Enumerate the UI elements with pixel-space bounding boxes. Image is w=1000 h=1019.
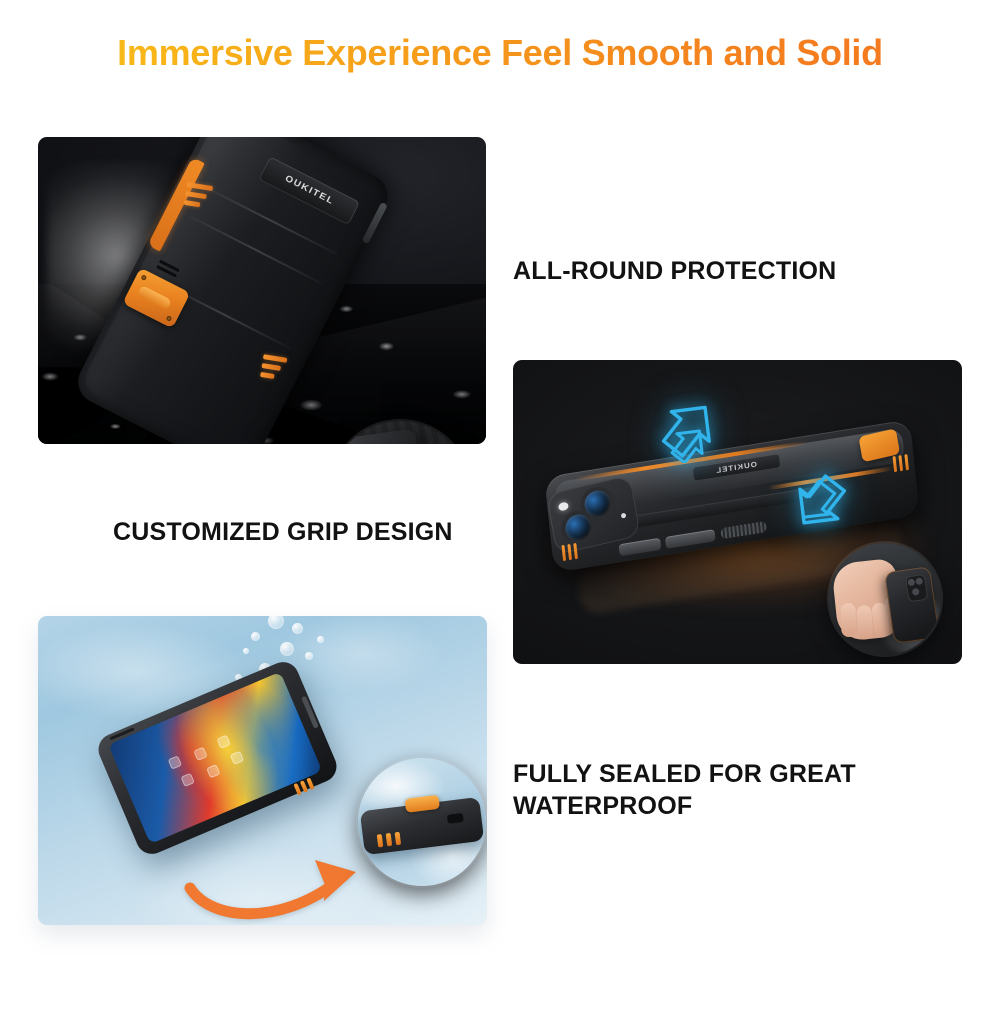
feature-caption-all-round-protection: ALL-ROUND PROTECTION	[513, 255, 836, 287]
held-phone	[884, 566, 940, 644]
camera-lens-icon	[563, 512, 593, 543]
screw-icon	[140, 274, 147, 281]
orange-port-cover	[404, 795, 439, 813]
caption-line-1: FULLY SEALED FOR GREAT	[513, 758, 933, 790]
page-title: Immersive Experience Feel Smooth and Sol…	[0, 32, 1000, 74]
port-opening	[447, 813, 464, 824]
screen-app-icons	[167, 724, 268, 803]
finger	[840, 603, 856, 638]
caption-line-2: WATERPROOF	[513, 790, 933, 822]
feature-caption-customized-grip-design: CUSTOMIZED GRIP DESIGN	[113, 516, 453, 548]
sealed-port-inset	[358, 758, 486, 886]
feature-image-customized-grip-design: OUKITEL	[513, 360, 962, 664]
grip-stripes	[561, 543, 577, 561]
grip-arrow-down-icon	[785, 468, 857, 530]
pointer-arrow-icon	[184, 854, 384, 925]
grip-arrow-up-icon	[654, 397, 726, 463]
screw-icon	[166, 315, 173, 322]
camera-module	[905, 574, 928, 603]
finger	[856, 605, 873, 640]
sensor-dot-icon	[621, 513, 627, 519]
grip-stripes	[184, 182, 213, 209]
hand-grip-inset	[829, 543, 941, 655]
feature-caption-fully-sealed-waterproof: FULLY SEALED FOR GREAT WATERPROOF	[513, 758, 933, 822]
camera-lens-icon	[583, 488, 613, 519]
flash-icon	[558, 501, 569, 511]
grip-stripes	[377, 832, 401, 848]
feature-image-all-round-protection: OUKITEL	[38, 137, 486, 444]
feature-image-fully-sealed-waterproof	[38, 616, 487, 925]
grip-stripes	[893, 454, 909, 472]
grip-stripes	[260, 354, 287, 380]
magnified-corner-inset	[330, 421, 470, 444]
